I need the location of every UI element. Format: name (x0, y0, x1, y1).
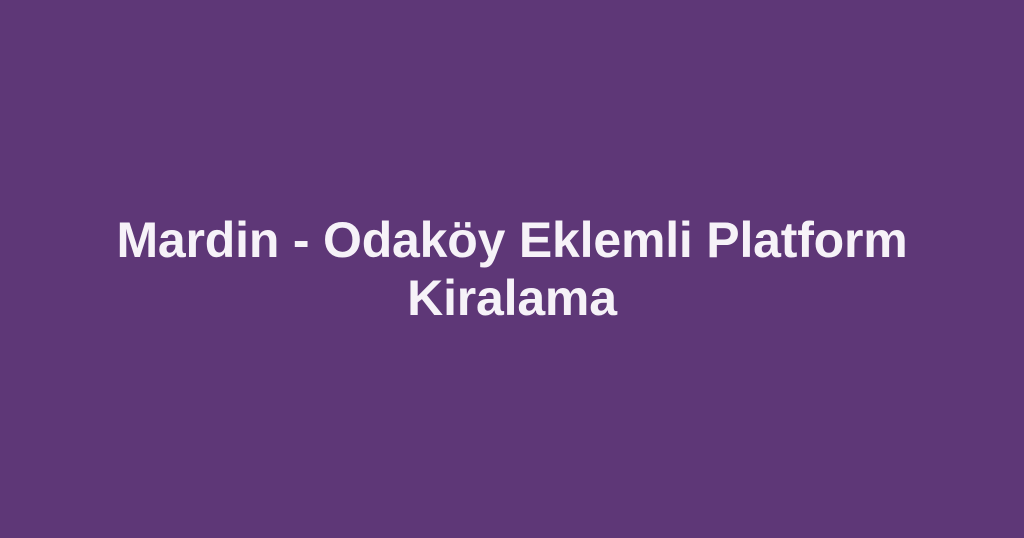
page-title: Mardin - Odaköy Eklemli Platform Kiralam… (98, 211, 926, 328)
title-block: Mardin - Odaköy Eklemli Platform Kiralam… (82, 211, 942, 328)
social-share-card: Mardin - Odaköy Eklemli Platform Kiralam… (0, 0, 1024, 538)
